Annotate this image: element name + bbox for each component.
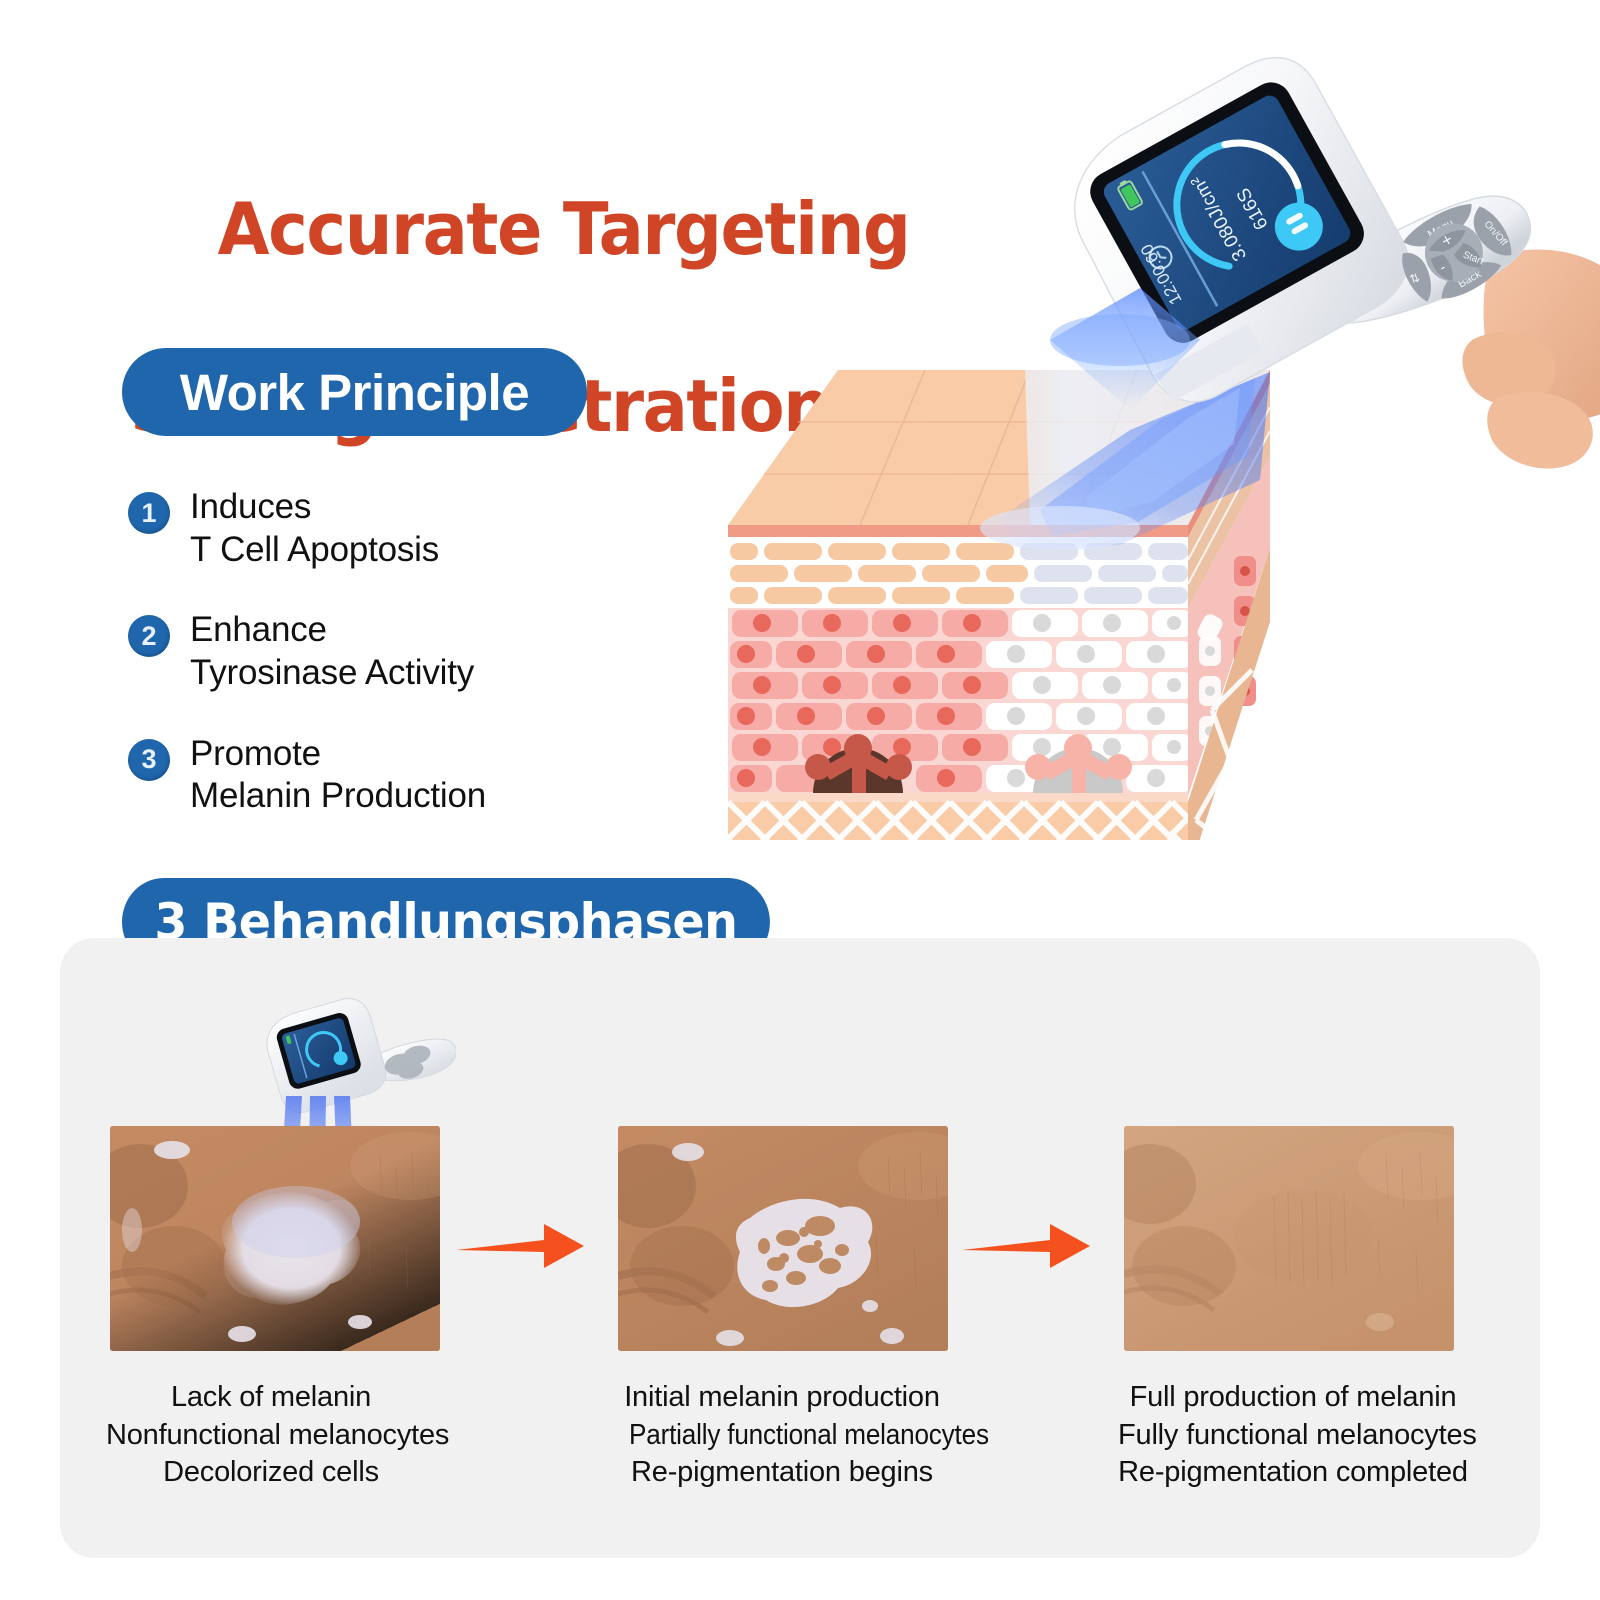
phase-1-caption-line-1: Lack of melanin <box>106 1379 436 1417</box>
phase-2-caption-line-1: Initial melanin production <box>612 1379 952 1417</box>
stratum-corneum-bricks <box>730 543 1188 604</box>
list-item-line-1: Induces <box>190 486 439 529</box>
headline-line-1: Accurate Targeting <box>218 187 910 271</box>
work-principle-badge: Work Principle <box>122 348 587 436</box>
phase-1-photo <box>110 1126 440 1351</box>
phase-1-caption: Lack of melanin Nonfunctional melanocyte… <box>106 1379 436 1492</box>
list-item-line-2: T Cell Apoptosis <box>190 529 439 572</box>
list-number-badge: 2 <box>128 615 170 657</box>
list-item-text: Enhance Tyrosinase Activity <box>190 609 474 694</box>
list-number-badge: 3 <box>128 739 170 781</box>
basement-membrane <box>728 793 1188 802</box>
arrow-right-icon <box>456 1218 586 1274</box>
list-item-text: Promote Melanin Production <box>190 733 486 818</box>
list-item: 3 Promote Melanin Production <box>128 733 648 818</box>
list-number-badge: 1 <box>128 492 170 534</box>
phase-3-caption-line-3: Re-pigmentation completed <box>1118 1454 1468 1492</box>
work-principle-list: 1 Induces T Cell Apoptosis 2 Enhance Tyr… <box>128 486 648 856</box>
list-item-line-1: Enhance <box>190 609 474 652</box>
list-item: 2 Enhance Tyrosinase Activity <box>128 609 648 694</box>
phase-2-photo <box>618 1126 948 1351</box>
phase-2-caption-line-3: Re-pigmentation begins <box>612 1454 952 1492</box>
phase-3-caption: Full production of melanin Fully functio… <box>1118 1379 1468 1492</box>
list-item-line-2: Tyrosinase Activity <box>190 652 474 695</box>
phase-3-photo <box>1124 1126 1454 1351</box>
phase-full-production: Full production of melanin Fully functio… <box>1124 1126 1468 1492</box>
list-item: 1 Induces T Cell Apoptosis <box>128 486 648 571</box>
list-item-text: Induces T Cell Apoptosis <box>190 486 439 571</box>
phase-initial-production: Initial melanin production Partially fun… <box>618 1126 952 1492</box>
list-item-line-1: Promote <box>190 733 486 776</box>
phase-3-caption-line-2: Fully functional melanocytes <box>1118 1417 1468 1455</box>
phase-1-caption-line-3: Decolorized cells <box>106 1454 436 1492</box>
arrow-right-icon <box>962 1218 1092 1274</box>
phase-2-caption-line-2: Partially functional melanocytes <box>629 1417 935 1455</box>
phase-lack-of-melanin: Lack of melanin Nonfunctional melanocyte… <box>110 1126 440 1492</box>
list-item-line-2: Melanin Production <box>190 775 486 818</box>
work-principle-badge-label: Work Principle <box>180 363 529 422</box>
phase-1-caption-line-2: Nonfunctional melanocytes <box>106 1417 436 1455</box>
phase-2-caption: Initial melanin production Partially fun… <box>612 1379 952 1492</box>
infographic-page: Accurate Targeting Strong Penetration Wo… <box>0 0 1600 1600</box>
handheld-uv-device: 12:00:60 3.080J/cm² 616S <box>1020 10 1600 480</box>
beam-glow <box>232 1186 360 1258</box>
phase-3-caption-line-1: Full production of melanin <box>1118 1379 1468 1417</box>
